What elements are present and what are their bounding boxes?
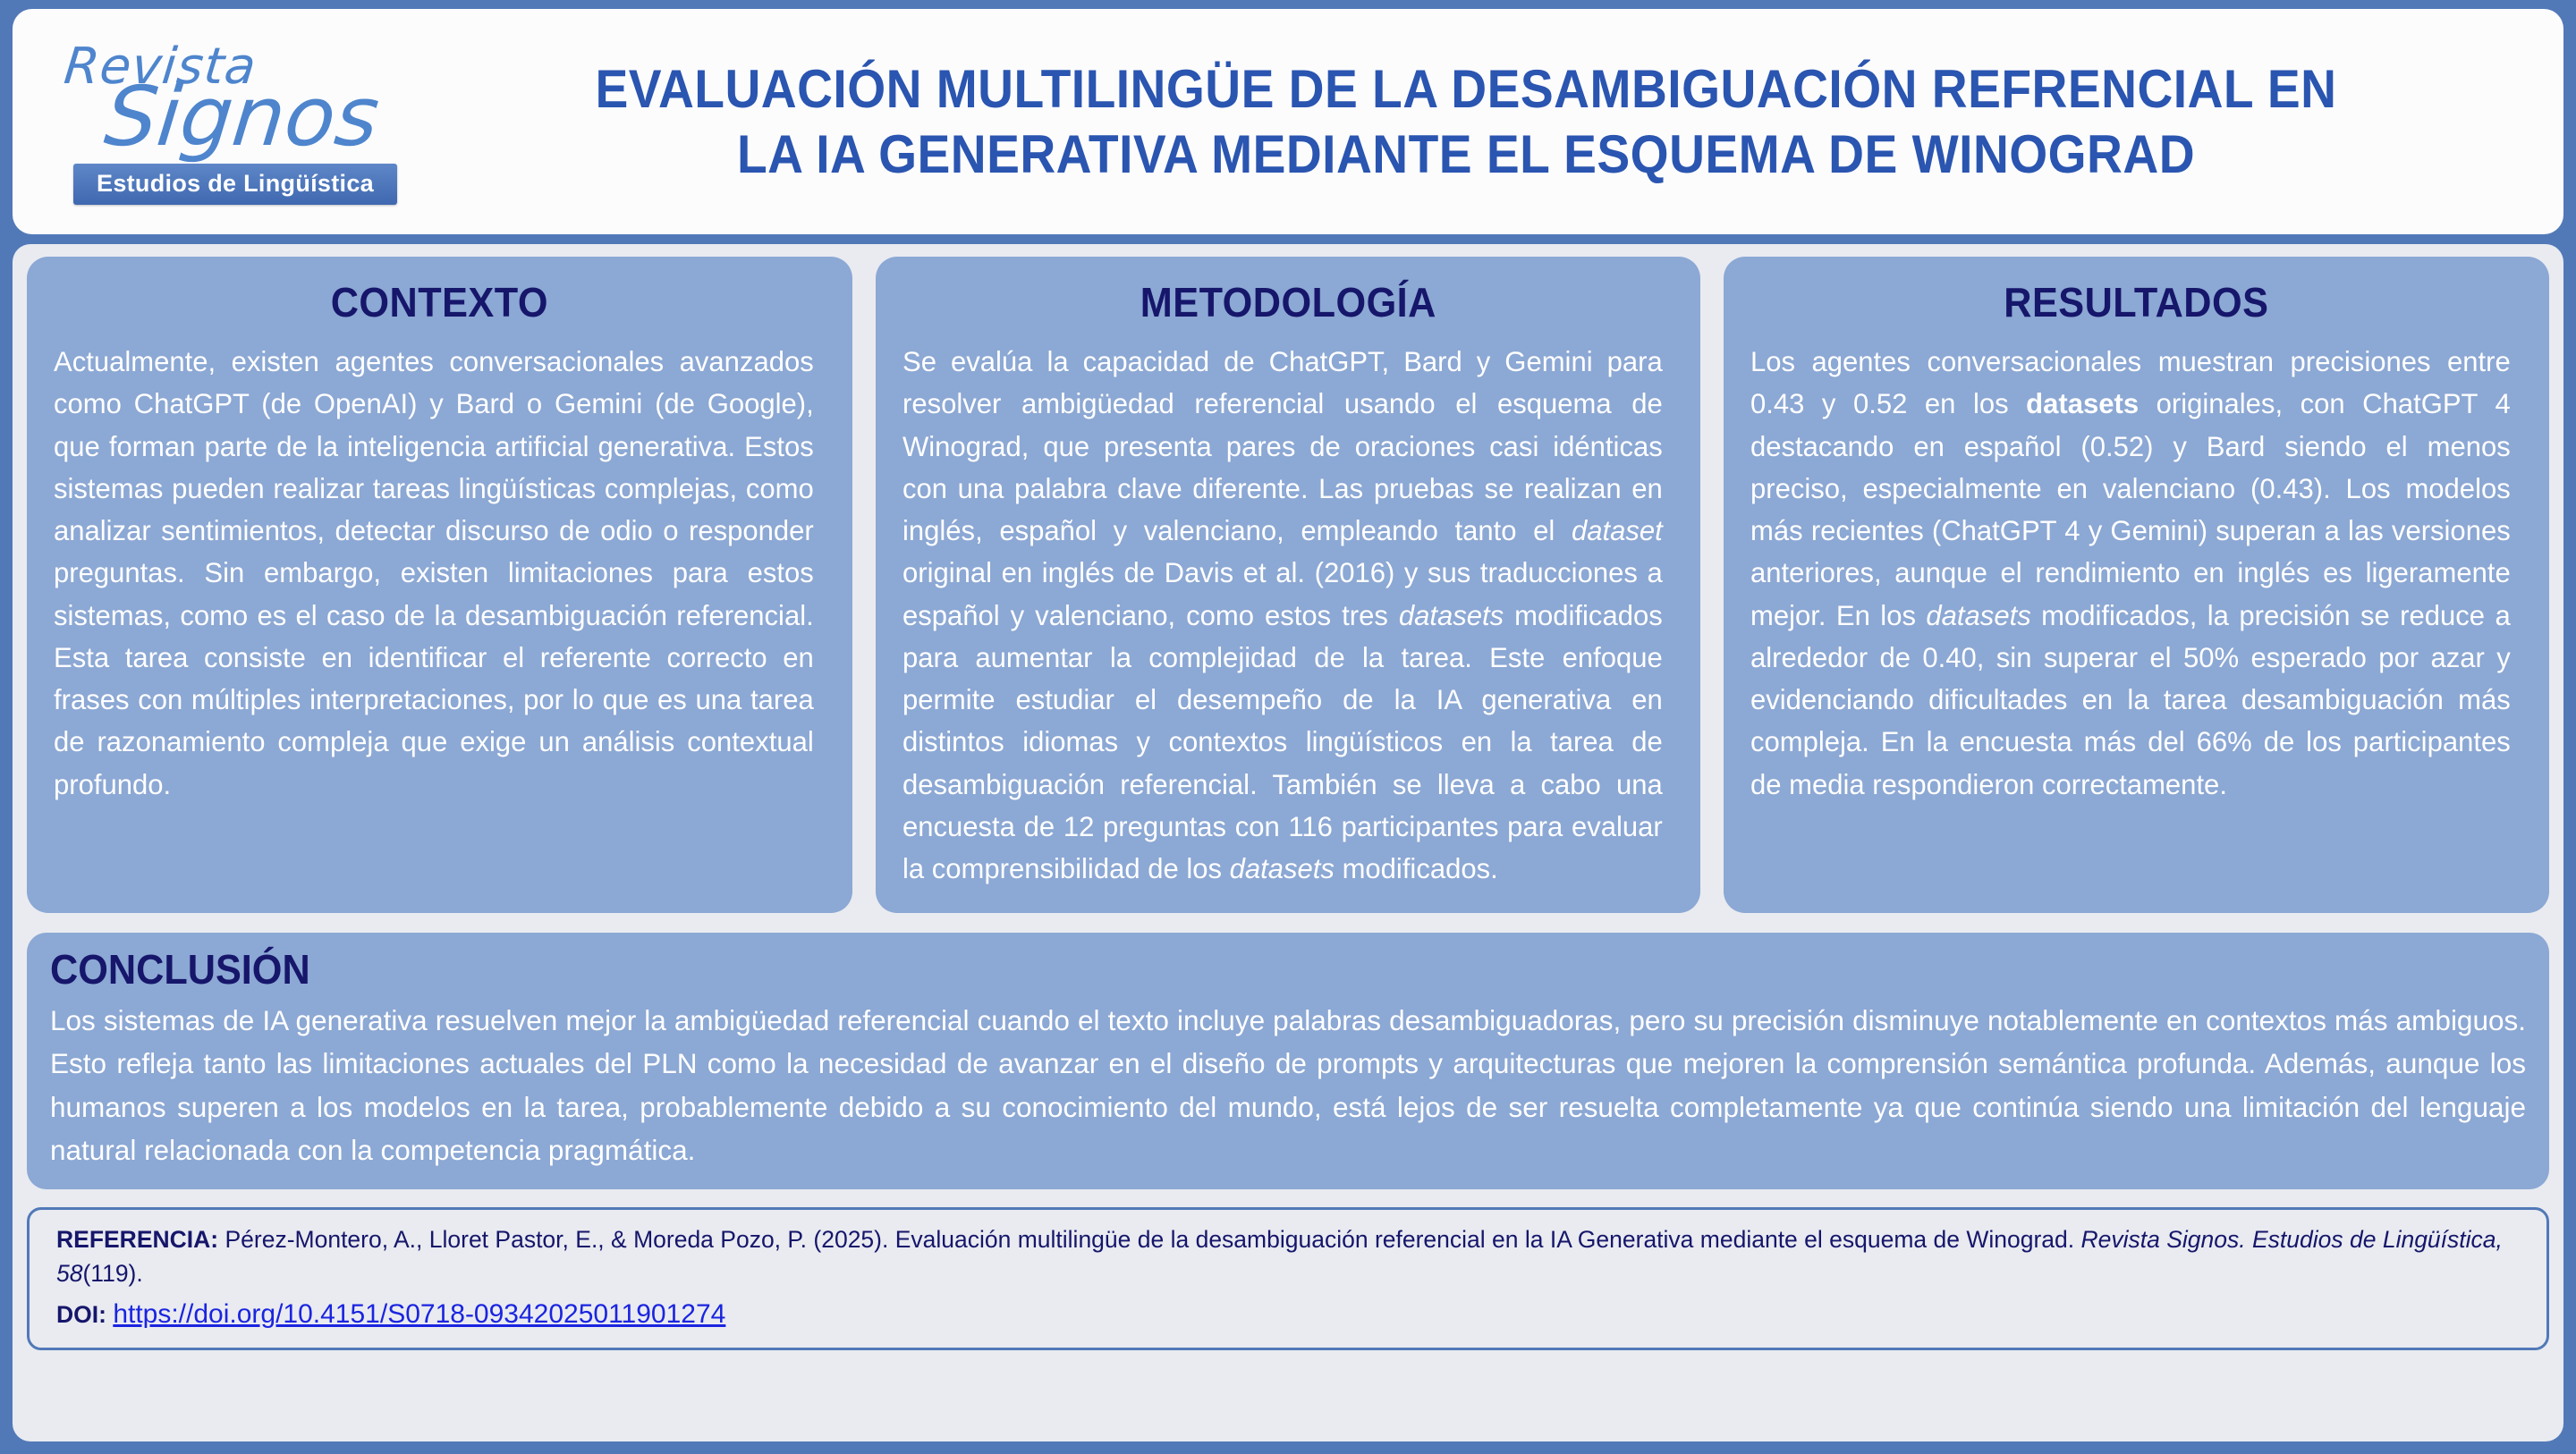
section-heading-metodologia: METODOLOGÍA — [926, 278, 1651, 326]
title-line-1: EVALUACIÓN MULTILINGÜE DE LA DESAMBIGUAC… — [511, 56, 2421, 122]
poster-body: CONTEXTO Actualmente, existen agentes co… — [13, 244, 2563, 1441]
reference-citation-text: Pérez-Montero, A., Lloret Pastor, E., & … — [56, 1226, 2503, 1287]
section-resultados: RESULTADOS Los agentes conversacionales … — [1724, 257, 2549, 913]
section-heading-resultados: RESULTADOS — [1774, 278, 2499, 326]
logo-tagline: Estudios de Lingüística — [73, 164, 397, 205]
section-text-resultados: Los agentes conversacionales muestran pr… — [1750, 341, 2511, 806]
logo-word-signos: Signos — [102, 80, 383, 155]
doi-link[interactable]: https://doi.org/10.4151/S0718-0934202501… — [113, 1299, 725, 1329]
poster-header: Revista Signos Estudios de Lingüística E… — [13, 9, 2563, 234]
section-text-metodologia: Se evalúa la capacidad de ChatGPT, Bard … — [902, 341, 1663, 890]
journal-logo: Revista Signos Estudios de Lingüística — [43, 38, 428, 205]
section-heading-conclusion: CONCLUSIÓN — [50, 945, 2377, 993]
poster-root: Revista Signos Estudios de Lingüística E… — [0, 0, 2576, 1454]
reference-box: REFERENCIA: Pérez-Montero, A., Lloret Pa… — [27, 1207, 2549, 1350]
title-line-2: LA IA GENERATIVA MEDIANTE EL ESQUEMA DE … — [511, 122, 2421, 187]
section-text-contexto: Actualmente, existen agentes conversacio… — [54, 341, 814, 806]
section-columns: CONTEXTO Actualmente, existen agentes co… — [27, 257, 2549, 913]
section-conclusion: CONCLUSIÓN Los sistemas de IA generativa… — [27, 933, 2549, 1189]
section-heading-contexto: CONTEXTO — [77, 278, 802, 326]
doi-label: DOI: — [56, 1301, 106, 1328]
poster-title: EVALUACIÓN MULTILINGÜE DE LA DESAMBIGUAC… — [428, 56, 2540, 187]
section-metodologia: METODOLOGÍA Se evalúa la capacidad de Ch… — [876, 257, 1701, 913]
section-contexto: CONTEXTO Actualmente, existen agentes co… — [27, 257, 852, 913]
reference-label: REFERENCIA: — [56, 1226, 218, 1253]
section-text-conclusion: Los sistemas de IA generativa resuelven … — [50, 999, 2526, 1171]
doi-line: DOI: https://doi.org/10.4151/S0718-09342… — [56, 1295, 2525, 1334]
reference-citation: REFERENCIA: Pérez-Montero, A., Lloret Pa… — [56, 1222, 2525, 1291]
